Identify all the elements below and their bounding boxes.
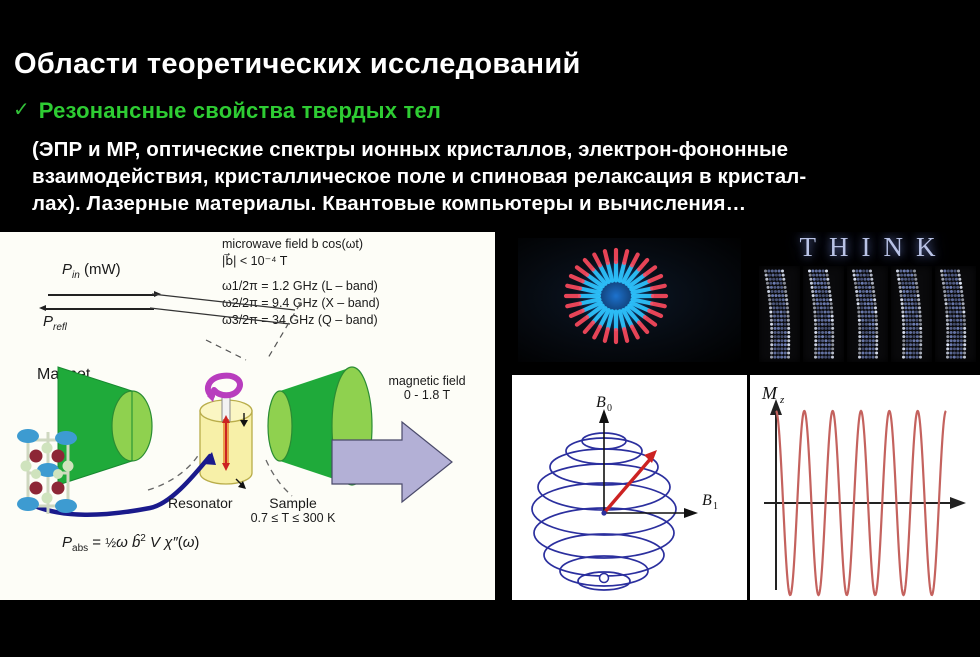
stm-panel-strip bbox=[759, 266, 976, 362]
check-icon: ✓ bbox=[13, 100, 30, 120]
bloch-sphere-graphic: B 0 B 1 bbox=[512, 375, 747, 600]
think-word-label: THINK bbox=[755, 232, 980, 263]
svg-text:B: B bbox=[702, 492, 712, 509]
stm-cell bbox=[759, 266, 800, 362]
page-title: Области теоретических исследований bbox=[14, 48, 581, 81]
radial-emission-panel bbox=[512, 232, 747, 368]
magnetic-field-range: 0 - 1.8 T bbox=[404, 388, 450, 402]
bullet-label: Резонансные свойства твердых тел bbox=[39, 98, 441, 124]
svg-text:M: M bbox=[761, 383, 778, 403]
crystal-lattice-icon bbox=[6, 418, 106, 528]
radial-rays-graphic bbox=[512, 232, 747, 368]
stm-cell bbox=[891, 266, 932, 362]
sample-temp-text: 0.7 ≤ T ≤ 300 K bbox=[251, 511, 336, 525]
svg-text:B: B bbox=[596, 394, 606, 411]
p-abs-formula: Pabs = ½ω b̂2 V χ″(ω) bbox=[62, 532, 199, 556]
body-line-3: лах). Лазерные материалы. Квантовые комп… bbox=[32, 190, 962, 217]
bloch-sphere-panel: B 0 B 1 bbox=[512, 375, 747, 600]
body-line-2: взаимодействия, кристаллическое поле и с… bbox=[32, 163, 962, 190]
magnetic-field-text: magnetic field bbox=[388, 374, 465, 388]
svg-text:0: 0 bbox=[607, 403, 612, 414]
magnetic-field-label: magnetic field 0 - 1.8 T bbox=[372, 374, 482, 402]
stm-cell bbox=[847, 266, 888, 362]
epr-spectrometer-panel: microwave field b cos(ωt) |b⃗| < 10⁻⁴ T … bbox=[0, 232, 495, 600]
stm-cell bbox=[803, 266, 844, 362]
stm-cell bbox=[935, 266, 976, 362]
sample-text: Sample bbox=[269, 495, 316, 511]
magnetic-field-block-arrow bbox=[330, 418, 460, 508]
body-paragraph: (ЭПР и МР, оптические спектры ионных кри… bbox=[32, 136, 962, 217]
body-line-1: (ЭПР и МР, оптические спектры ионных кри… bbox=[32, 136, 962, 163]
resonator-label: Resonator bbox=[168, 496, 233, 510]
figure-grid: microwave field b cos(ωt) |b⃗| < 10⁻⁴ T … bbox=[0, 232, 980, 600]
svg-text:1: 1 bbox=[713, 501, 718, 512]
svg-text:z: z bbox=[779, 394, 785, 406]
stm-think-panel: THINK bbox=[755, 232, 980, 368]
sample-label: Sample 0.7 ≤ T ≤ 300 K bbox=[238, 496, 348, 525]
mz-plot-graphic: M z bbox=[750, 375, 980, 600]
mz-oscillation-panel: M z bbox=[750, 375, 980, 600]
bullet-row: ✓ Резонансные свойства твердых тел bbox=[13, 98, 963, 124]
